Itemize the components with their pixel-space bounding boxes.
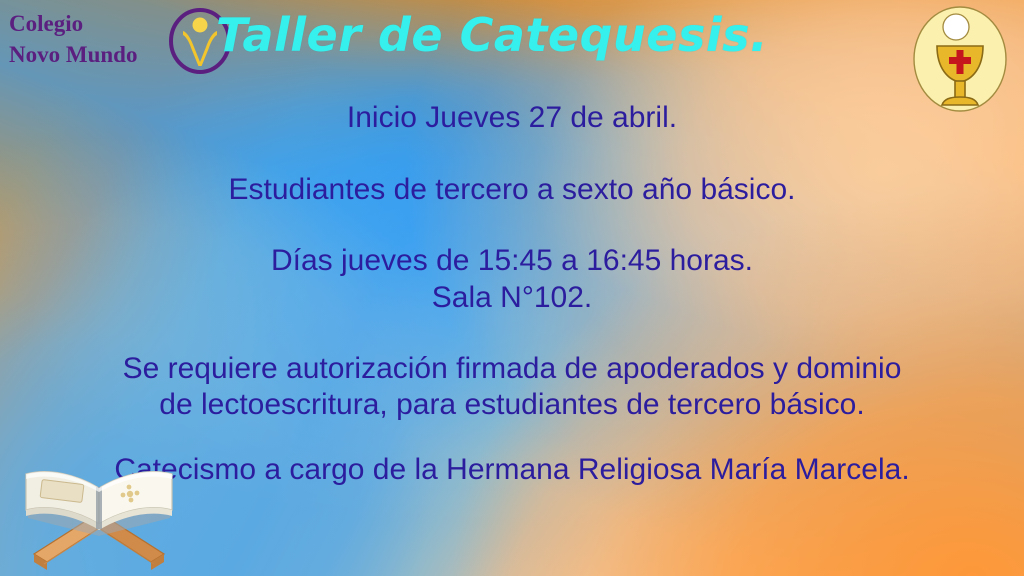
line-audience: Estudiantes de tercero a sexto año básic…	[0, 172, 1024, 209]
spacer	[0, 208, 1024, 243]
spacer	[0, 422, 1024, 452]
open-book-on-stand-icon	[8, 458, 190, 574]
line-start-date: Inicio Jueves 27 de abril.	[0, 100, 1024, 137]
line-room: Sala N°102.	[0, 280, 1024, 317]
page-title: Taller de Catequesis.	[0, 8, 1024, 62]
line-requirement-2: de lectoescritura, para estudiantes de t…	[0, 387, 1024, 422]
line-requirement-1: Se requiere autorización firmada de apod…	[0, 351, 1024, 386]
chalice-host-icon	[910, 4, 1010, 114]
spacer	[0, 316, 1024, 351]
line-schedule: Días jueves de 15:45 a 16:45 horas.	[0, 243, 1024, 280]
poster-canvas: Colegio Novo Mundo Taller de Catequesis.…	[0, 0, 1024, 576]
spacer	[0, 137, 1024, 172]
announcement-body: Inicio Jueves 27 de abril. Estudiantes d…	[0, 100, 1024, 489]
